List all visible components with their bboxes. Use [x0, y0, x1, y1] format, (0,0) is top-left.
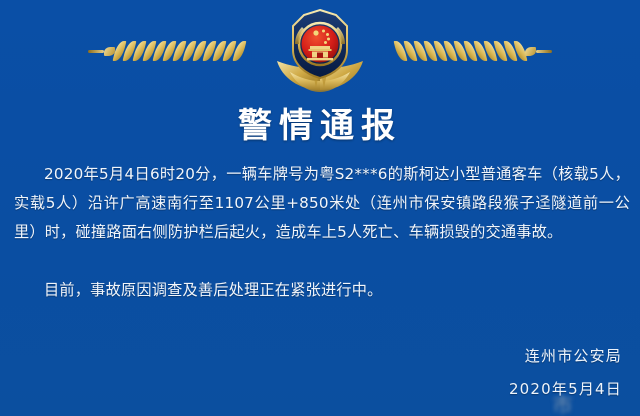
- laurel-stem-icon: [536, 50, 552, 53]
- china-police-badge: [272, 6, 368, 94]
- laurel-branch-right: [395, 38, 552, 64]
- signature-block: 连州市公安局 2020年5月4日 市: [509, 340, 622, 406]
- issue-date: 2020年5月4日 市: [509, 373, 622, 406]
- police-bulletin-poster: 警情通报 2020年5月4日6时20分，一辆车牌号为粤S2***6的斯柯达小型普…: [0, 0, 640, 416]
- issuing-authority: 连州市公安局: [509, 340, 622, 373]
- laurel-tip-icon: [525, 47, 536, 56]
- incident-paragraph: 2020年5月4日6时20分，一辆车牌号为粤S2***6的斯柯达小型普通客车（核…: [14, 160, 630, 247]
- page-title: 警情通报: [0, 98, 640, 147]
- masthead: [0, 0, 640, 96]
- bulletin-body: 2020年5月4日6时20分，一辆车牌号为粤S2***6的斯柯达小型普通客车（核…: [14, 160, 630, 305]
- laurel-branch-left: [88, 38, 245, 64]
- issue-date-text: 2020年5月4日: [509, 380, 622, 398]
- laurel-stem-icon: [88, 50, 104, 53]
- status-paragraph: 目前，事故原因调查及善后处理正在紧张进行中。: [14, 276, 630, 305]
